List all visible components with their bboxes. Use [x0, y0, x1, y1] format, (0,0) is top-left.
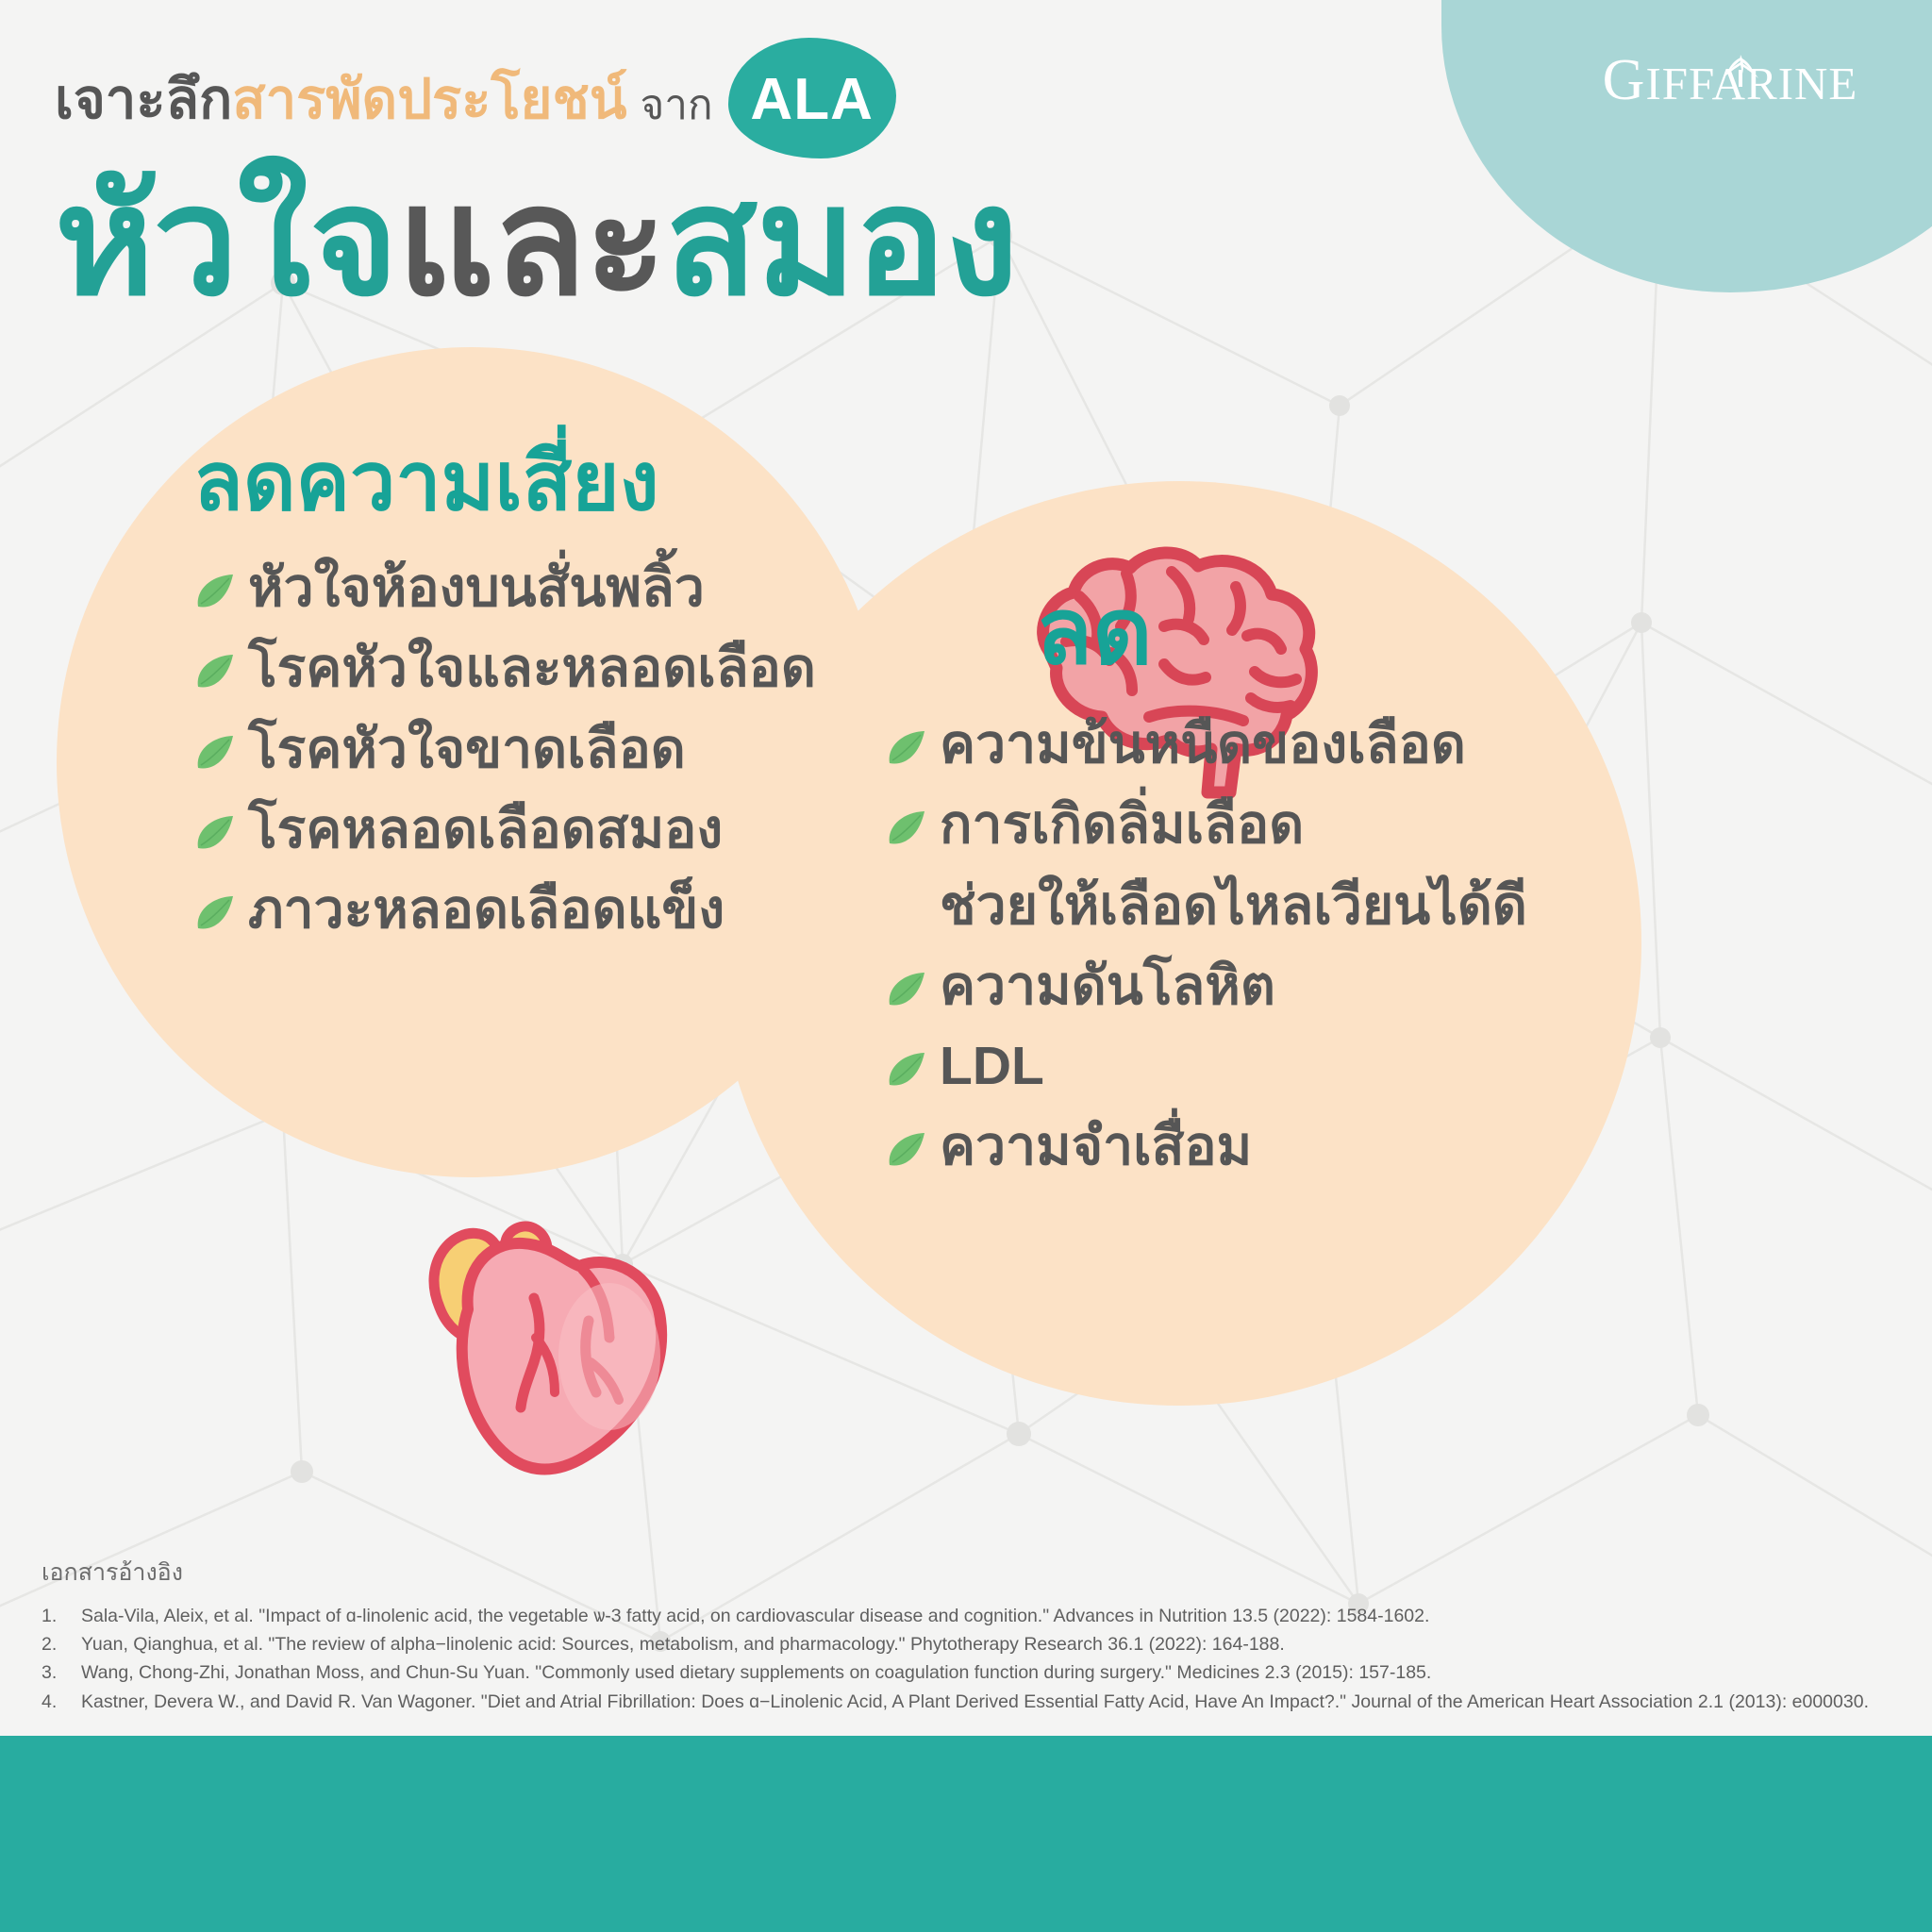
- reference-item: Yuan, Qianghua, et al. "The review of al…: [42, 1630, 1890, 1658]
- headline-part2: และ: [397, 157, 665, 325]
- leaf-icon: [885, 726, 926, 768]
- references-title: เอกสารอ้างอิง: [42, 1558, 1890, 1587]
- references-list: Sala-Vila, Aleix, et al. "Impact of ɑ-li…: [42, 1602, 1890, 1716]
- list-item-label: ความจำเสื่อม: [940, 1119, 1252, 1174]
- leaf-icon: [885, 1048, 926, 1090]
- list-item-label: ความดันโลหิต: [940, 958, 1275, 1014]
- list-item-label: โรคหลอดเลือดสมอง: [248, 802, 723, 858]
- leaf-icon: [193, 811, 235, 853]
- reference-item: Wang, Chong-Zhi, Jonathan Moss, and Chun…: [42, 1658, 1890, 1687]
- list-item: ความจำเสื่อม: [885, 1119, 1527, 1174]
- eyebrow-part2: สารพัดประโยชน์: [232, 73, 626, 127]
- headline-part1: หัวใจ: [55, 157, 397, 325]
- list-item-label: โรคหัวใจและหลอดเลือด: [248, 641, 816, 696]
- list-item: ความดันโลหิต: [885, 958, 1527, 1014]
- list-item: โรคหัวใจและหลอดเลือด: [193, 641, 816, 696]
- eyebrow-part1: เจาะลึก: [55, 73, 232, 127]
- list-item: หัวใจห้องบนสั่นพลิ้ว: [193, 560, 816, 616]
- heart-icon: [366, 1196, 708, 1481]
- list-item-subline: ช่วยให้เลือดไหลเวียนได้ดี: [940, 878, 1527, 934]
- eyebrow-part3: จาก: [641, 85, 713, 126]
- list-item: LDL: [885, 1039, 1527, 1094]
- right-panel-title: ลด: [1036, 585, 1527, 677]
- list-item: ความข้นหนืดของเลือด: [885, 717, 1527, 773]
- list-item-label: การเกิดลิ่มเลือด: [940, 797, 1304, 853]
- list-item-label: โรคหัวใจขาดเลือด: [248, 722, 686, 777]
- list-item-label: หัวใจห้องบนสั่นพลิ้ว: [248, 560, 705, 616]
- leaf-icon: [885, 1128, 926, 1170]
- list-item: การเกิดลิ่มเลือด: [885, 797, 1527, 853]
- ala-badge: ALA: [728, 38, 896, 158]
- list-item-label: LDL: [940, 1039, 1044, 1094]
- right-panel-list: ความข้นหนืดของเลือด การเกิดลิ่มเลือด ช่ว…: [885, 717, 1527, 1175]
- brand-logo: GIFFARINE: [1570, 28, 1890, 132]
- ala-badge-label: ALA: [750, 71, 873, 129]
- list-item-label: ภาวะหลอดเลือดแข็ง: [248, 882, 724, 938]
- right-panel: ลด ความข้นหนืดของเลือด การเกิดลิ่มเลือด …: [885, 585, 1527, 1200]
- logo-initial: G: [1603, 48, 1646, 112]
- eyebrow-line: เจาะลึก สารพัดประโยชน์ จาก ALA: [55, 42, 896, 158]
- reference-item: Kastner, Devera W., and David R. Van Wag…: [42, 1688, 1890, 1716]
- leaf-icon: [885, 807, 926, 848]
- list-item: โรคหัวใจขาดเลือด: [193, 722, 816, 777]
- leaf-icon: [193, 570, 235, 611]
- left-panel: ลดความเสี่ยง หัวใจห้องบนสั่นพลิ้ว โรคหัว…: [193, 441, 816, 962]
- left-panel-list: หัวใจห้องบนสั่นพลิ้ว โรคหัวใจและหลอดเลือ…: [193, 560, 816, 938]
- left-panel-title: ลดความเสี่ยง: [193, 441, 816, 523]
- list-item: ภาวะหลอดเลือดแข็ง: [193, 882, 816, 938]
- page-title: หัวใจและสมอง: [55, 166, 1018, 317]
- list-item-label: ความข้นหนืดของเลือด: [940, 717, 1466, 773]
- leaf-icon: [193, 731, 235, 773]
- crown-leaf-icon: [1712, 55, 1769, 87]
- list-item: โรคหลอดเลือดสมอง: [193, 802, 816, 858]
- headline-part3: สมอง: [665, 157, 1017, 325]
- leaf-icon: [193, 650, 235, 691]
- reference-item: Sala-Vila, Aleix, et al. "Impact of ɑ-li…: [42, 1602, 1890, 1630]
- infographic-canvas: GIFFARINE เจาะลึก สารพัดประโยชน์ จาก ALA…: [0, 0, 1932, 1932]
- footer-bar: [0, 1736, 1932, 1932]
- leaf-icon: [885, 968, 926, 1009]
- references-block: เอกสารอ้างอิง Sala-Vila, Aleix, et al. "…: [42, 1558, 1890, 1716]
- leaf-icon: [193, 891, 235, 933]
